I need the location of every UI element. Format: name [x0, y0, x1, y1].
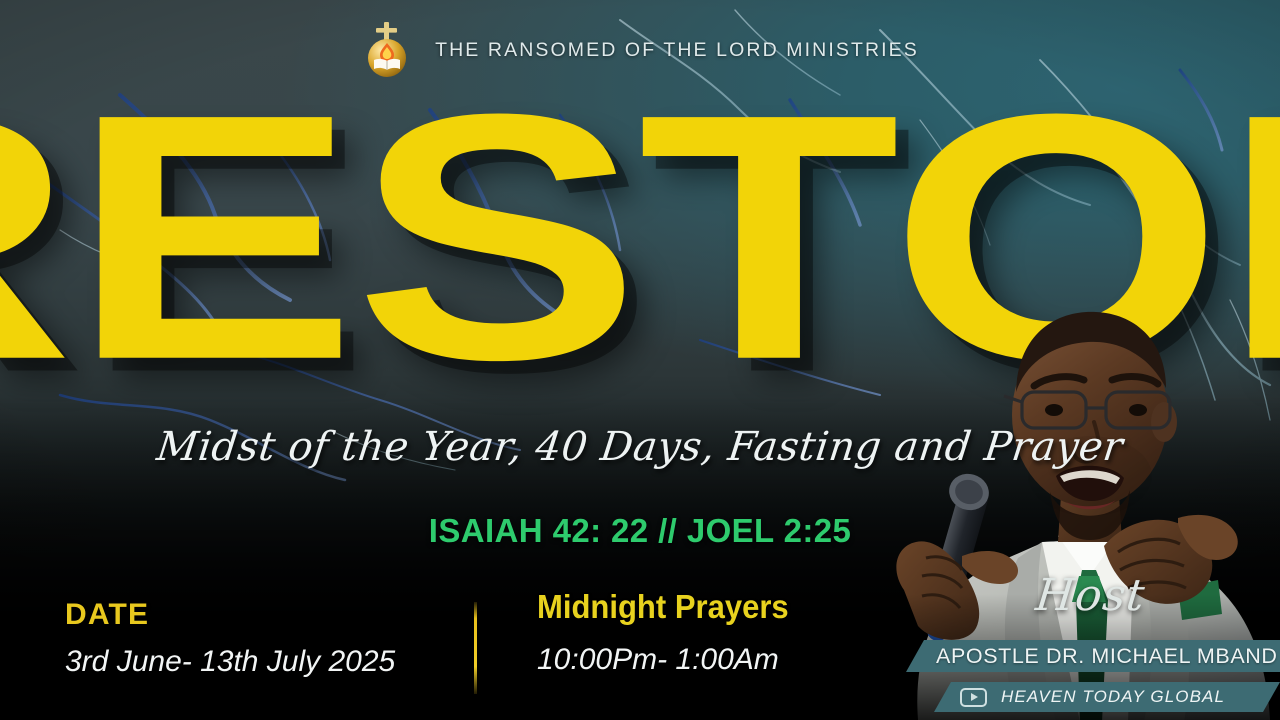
- host-name: APOSTLE DR. MICHAEL MBAND: [936, 644, 1278, 669]
- time-label: Midnight Prayers: [537, 588, 789, 626]
- date-label: DATE: [65, 598, 395, 632]
- time-block: Midnight Prayers 10:00Pm- 1:00Am: [537, 588, 805, 677]
- channel-name: HEAVEN TODAY GLOBAL: [1001, 687, 1225, 707]
- event-flyer: RESTORE: [0, 0, 1280, 720]
- host-name-banner: APOSTLE DR. MICHAEL MBAND: [906, 640, 1280, 672]
- channel-banner[interactable]: HEAVEN TODAY GLOBAL: [934, 682, 1280, 712]
- info-divider: [474, 602, 477, 694]
- time-value: 10:00Pm- 1:00Am: [537, 643, 805, 677]
- date-block: DATE 3rd June- 13th July 2025: [65, 598, 395, 679]
- open-book-flame-cross-icon: [361, 22, 413, 78]
- host-script-label: Host: [1033, 570, 1147, 621]
- header: THE RANSOMED OF THE LORD MINISTRIES: [0, 22, 1280, 78]
- ministry-name: THE RANSOMED OF THE LORD MINISTRIES: [435, 39, 919, 62]
- scripture-reference: ISAIAH 42: 22 // JOEL 2:25: [0, 512, 1280, 550]
- youtube-play-icon: [960, 688, 987, 707]
- event-subtitle: Midst of the Year, 40 Days, Fasting and …: [0, 424, 1280, 470]
- date-value: 3rd June- 13th July 2025: [65, 645, 395, 679]
